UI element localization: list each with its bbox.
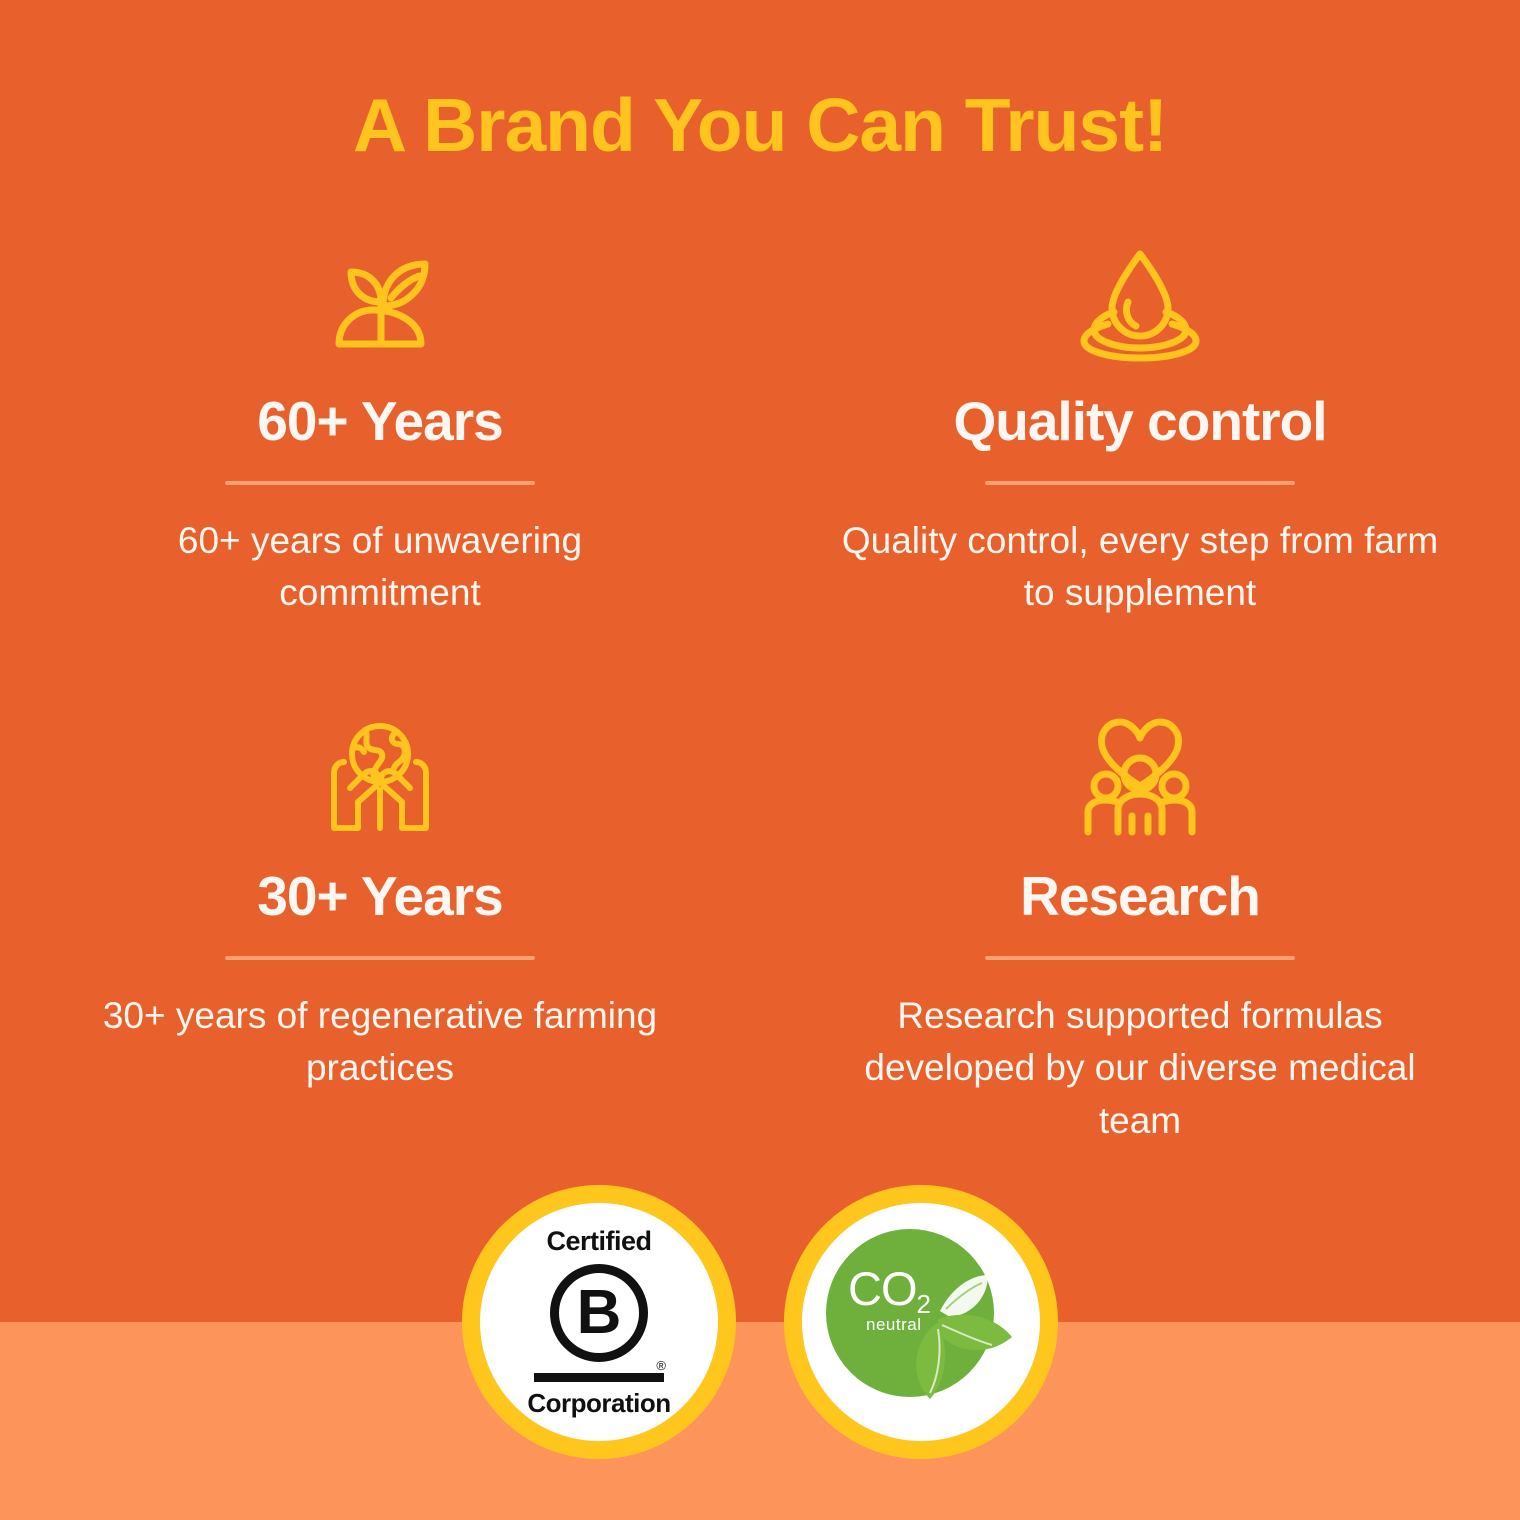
feature-card-quality-control: Quality control Quality control, every s… xyxy=(760,240,1520,620)
badge-inner: Certified B ® Corporation xyxy=(480,1203,718,1441)
co2-sub-wrap: neutral xyxy=(866,1315,921,1335)
badge-inner: CO2 neutral xyxy=(802,1203,1040,1441)
card-body: Quality control, every step from farm to… xyxy=(840,515,1440,620)
card-divider xyxy=(225,481,535,485)
co2-neutral-badge[interactable]: CO2 neutral xyxy=(784,1185,1058,1459)
card-heading: 60+ Years xyxy=(257,393,502,451)
sprout-icon xyxy=(321,240,439,365)
card-body: Research supported formulas developed by… xyxy=(840,990,1440,1148)
certification-badges: Certified B ® Corporation xyxy=(0,1185,1520,1459)
bcorp-logo: Certified B ® Corporation xyxy=(524,1228,674,1416)
feature-row-1: 60+ Years 60+ years of unwavering commit… xyxy=(0,240,1520,620)
feature-card-research: Research Research supported formulas dev… xyxy=(760,715,1520,1147)
co2-sub-label: neutral xyxy=(866,1315,921,1334)
feature-card-30-years: 30+ Years 30+ years of regenerative farm… xyxy=(0,715,760,1147)
bcorp-rule-row: ® xyxy=(534,1373,664,1382)
card-heading: Quality control xyxy=(953,393,1326,451)
card-divider xyxy=(985,481,1295,485)
card-body: 30+ years of regenerative farming practi… xyxy=(80,990,680,1095)
feature-card-60-years: 60+ Years 60+ years of unwavering commit… xyxy=(0,240,760,620)
bcorp-letter-b: B xyxy=(550,1264,648,1362)
bcorp-top-text: Certified xyxy=(546,1228,651,1255)
bcorp-bottom-text: Corporation xyxy=(527,1390,670,1416)
promo-graphic: A Brand You Can Trust! 60+ Years 60+ yea… xyxy=(0,0,1520,1520)
certified-b-corporation-badge[interactable]: Certified B ® Corporation xyxy=(462,1185,736,1459)
card-heading: 30+ Years xyxy=(257,868,502,926)
page-title: A Brand You Can Trust! xyxy=(0,82,1520,168)
co2-label: CO2 xyxy=(848,1265,930,1317)
card-divider xyxy=(225,956,535,960)
bcorp-rule xyxy=(534,1373,664,1382)
family-heart-icon xyxy=(1076,715,1204,840)
registered-mark-icon: ® xyxy=(656,1358,666,1373)
feature-row-2: 30+ Years 30+ years of regenerative farm… xyxy=(0,715,1520,1147)
water-droplet-icon xyxy=(1078,240,1202,365)
card-divider xyxy=(985,956,1295,960)
card-heading: Research xyxy=(1020,868,1260,926)
feature-grid: 60+ Years 60+ years of unwavering commit… xyxy=(0,240,1520,1147)
card-body: 60+ years of unwavering commitment xyxy=(80,515,680,620)
hands-holding-globe-icon xyxy=(320,715,440,840)
